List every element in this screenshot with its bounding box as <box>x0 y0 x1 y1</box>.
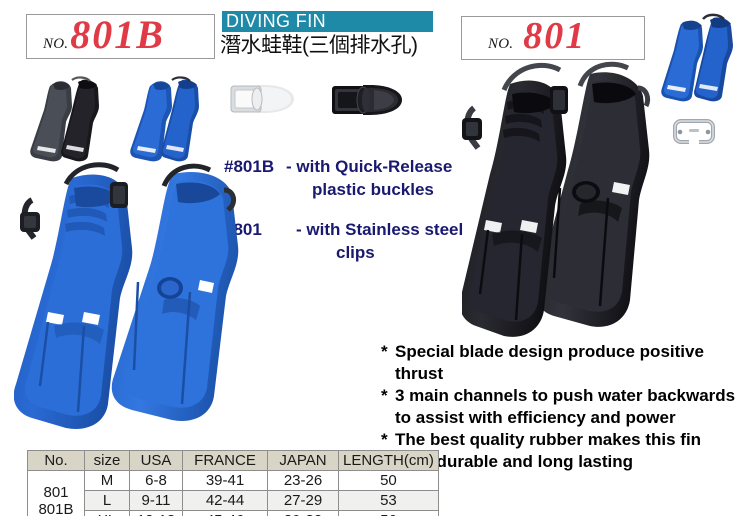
feature-text: The best quality rubber makes this fin u… <box>395 429 741 473</box>
table-row: 801 801B M 6-8 39-41 23-26 50 <box>28 471 439 491</box>
cell-model-numbers: 801 801B <box>28 471 85 516</box>
cell-france: 42-44 <box>183 491 268 511</box>
model-number-value: 801 <box>523 17 586 55</box>
cell-japan: 23-26 <box>268 471 339 491</box>
size-specification-table: No. size USA FRANCE JAPAN LENGTH(cm) 801… <box>27 450 439 516</box>
cell-france: 45-46 <box>183 511 268 516</box>
column-header-france: FRANCE <box>183 451 268 471</box>
model-number-box-801b: NO. 801B <box>26 14 215 59</box>
bullet-asterisk-icon: * <box>381 429 395 451</box>
table-header-row: No. size USA FRANCE JAPAN LENGTH(cm) <box>28 451 439 471</box>
cell-size: M <box>85 471 130 491</box>
callout-line-1: - with Quick-Release <box>286 157 452 176</box>
cell-length: 56 <box>339 511 439 516</box>
feature-text: 3 main channels to push water backwards … <box>395 385 741 429</box>
callout-line-1: - with Stainless steel <box>296 220 463 239</box>
bullet-asterisk-icon: * <box>381 385 395 407</box>
cell-france: 39-41 <box>183 471 268 491</box>
cell-length: 53 <box>339 491 439 511</box>
column-header-japan: JAPAN <box>268 451 339 471</box>
title-banner: DIVING FIN <box>222 11 433 32</box>
cell-length: 50 <box>339 471 439 491</box>
model-label-line-1: 801 <box>34 484 78 501</box>
cell-usa: 12-13 <box>130 511 183 516</box>
cell-japan: 27-29 <box>268 491 339 511</box>
column-header-length: LENGTH(cm) <box>339 451 439 471</box>
column-header-size: size <box>85 451 130 471</box>
cell-japan: 30-32 <box>268 511 339 516</box>
model-number-value: 801B <box>70 15 165 55</box>
model-prefix-label: NO. <box>43 36 68 53</box>
cell-usa: 6-8 <box>130 471 183 491</box>
cell-usa: 9-11 <box>130 491 183 511</box>
table-row: XL 12-13 45-46 30-32 56 <box>28 511 439 516</box>
column-header-no: No. <box>28 451 85 471</box>
quick-release-plastic-buckle-white <box>228 82 296 116</box>
table-row: L 9-11 42-44 27-29 53 <box>28 491 439 511</box>
model-prefix-label: NO. <box>488 36 513 53</box>
feature-text: Special blade design produce positive th… <box>395 341 741 385</box>
quick-release-plastic-buckle-black <box>330 82 404 118</box>
feature-list-item: * 3 main channels to push water backward… <box>381 385 741 429</box>
diving-fins-black-thumbnail <box>22 76 114 164</box>
diving-fins-blue-thumbnail <box>122 76 214 164</box>
bullet-asterisk-icon: * <box>381 341 395 363</box>
diving-fins-blue-large <box>14 160 304 445</box>
model-label-line-2: 801B <box>34 501 78 516</box>
feature-list-item: * Special blade design produce positive … <box>381 341 741 385</box>
title-chinese: 潛水蛙鞋(三個排水孔) <box>220 33 418 58</box>
product-catalog-page: NO. 801B DIVING FIN 潛水蛙鞋(三個排水孔) NO. 801 <box>0 0 750 516</box>
column-header-usa: USA <box>130 451 183 471</box>
cell-size: L <box>85 491 130 511</box>
title-english: DIVING FIN <box>222 11 433 32</box>
diving-fins-black-large <box>462 52 712 352</box>
cell-size: XL <box>85 511 130 516</box>
